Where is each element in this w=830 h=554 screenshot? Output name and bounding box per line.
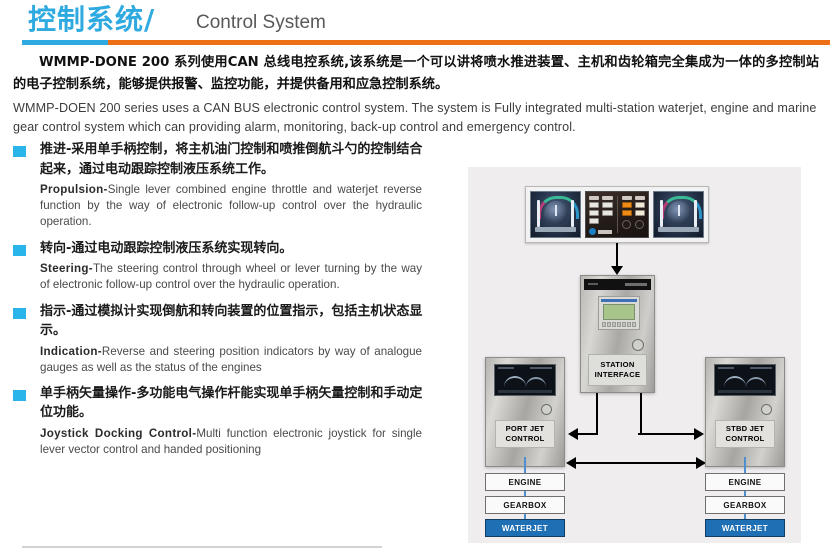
port-label-line1: PORT JET — [506, 424, 545, 434]
gauge-needle — [678, 205, 680, 216]
feature-list: 推进-采用单手柄控制，将主机油门控制和喷推倒航斗勺的控制结合起来，通过电动跟踪控… — [0, 140, 452, 466]
panel-button[interactable] — [602, 202, 612, 208]
gauge-needle — [555, 205, 557, 216]
system-diagram: STATION INTERFACE PORT JET CONTROL — [468, 167, 801, 543]
stbd-jet-control-cabinet: STBD JET CONTROL — [705, 357, 785, 467]
page-header: 控制系统/ Control System — [0, 0, 830, 48]
hmi-display-unit — [598, 296, 640, 330]
panel-knob-group — [635, 220, 645, 229]
feature-lead-en: Propulsion- — [40, 183, 108, 196]
arrow-station-to-stbd-line — [638, 433, 694, 435]
panel-knob-group — [622, 220, 632, 229]
stbd-label-line2: CONTROL — [726, 434, 765, 444]
hmi-keypad[interactable] — [602, 322, 636, 327]
display-bottom-bar — [498, 390, 552, 393]
intro-text-cn: WMMP-DONE 200 系列使用CAN 总线电控系统,该系统是一个可以讲将喷… — [13, 55, 819, 92]
hmi-key[interactable] — [627, 322, 631, 327]
station-label-line2: INTERFACE — [595, 370, 641, 380]
hmi-lcd-screen — [603, 304, 635, 320]
bezel-mark-left — [588, 283, 598, 285]
intro-paragraph-cn: WMMP-DONE 200 系列使用CAN 总线电控系统,该系统是一个可以讲将喷… — [13, 52, 819, 96]
panel-column-3 — [622, 196, 632, 233]
port-engine-box: ENGINE — [485, 473, 565, 491]
arrow-head-to-stbd-icon — [694, 428, 704, 440]
panel-header-strip — [635, 196, 645, 200]
page-title-en: Control System — [196, 10, 326, 36]
station-label-line1: STATION — [600, 360, 634, 370]
display-curve-b — [526, 377, 546, 387]
arrow-console-to-station-icon — [616, 243, 618, 266]
port-jet-control-label: PORT JET CONTROL — [495, 420, 555, 448]
feature-lead-en: Joystick Docking Control- — [40, 427, 196, 440]
panel-header-strip — [622, 196, 632, 200]
control-panel-columns — [589, 196, 645, 233]
gauge-base — [535, 227, 576, 232]
arrow-head-to-port-icon — [568, 428, 578, 440]
feature-item-indication: 指示-通过模拟计实现倒航和转向装置的位置指示，包括主机状态显示。 Indicat… — [0, 302, 452, 376]
port-gearbox-box: GEARBOX — [485, 496, 565, 514]
stbd-label-line1: STBD JET — [726, 424, 764, 434]
stbd-drive-stack: ENGINE GEARBOX WATERJET — [705, 473, 785, 537]
stbd-engine-box: ENGINE — [705, 473, 785, 491]
bullet-square-icon — [13, 146, 26, 157]
bullet-square-icon — [13, 308, 26, 319]
gauge-base — [658, 227, 699, 232]
port-label-line2: CONTROL — [506, 434, 545, 444]
stbd-gauge-icon — [653, 191, 704, 238]
panel-button-active[interactable] — [622, 210, 632, 216]
panel-button[interactable] — [602, 210, 612, 216]
port-jet-control-cabinet: PORT JET CONTROL — [485, 357, 565, 467]
port-status-led-icon — [541, 404, 552, 415]
feature-title-cn: 推进-采用单手柄控制，将主机油门控制和喷推倒航斗勺的控制结合起来，通过电动跟踪控… — [40, 140, 452, 179]
panel-button[interactable] — [589, 218, 599, 224]
station-interface-label: STATION INTERFACE — [588, 354, 647, 386]
bridge-console — [525, 186, 709, 243]
bullet-square-icon — [13, 390, 26, 401]
intro-section: WMMP-DONE 200 系列使用CAN 总线电控系统,该系统是一个可以讲将喷… — [13, 52, 819, 136]
station-left-drop-line — [596, 393, 598, 434]
display-row-right — [750, 367, 772, 369]
stbd-jet-control-label: STBD JET CONTROL — [715, 420, 775, 448]
footer-divider — [22, 546, 382, 548]
station-interface-cabinet: STATION INTERFACE — [580, 275, 655, 393]
gauge-lever-left — [537, 200, 540, 227]
display-bottom-bar — [718, 390, 772, 393]
port-jet-display — [494, 364, 556, 396]
arrow-port-stbd-line — [574, 462, 698, 464]
panel-button[interactable] — [589, 202, 599, 208]
feature-item-propulsion: 推进-采用单手柄控制，将主机油门控制和喷推倒航斗勺的控制结合起来，通过电动跟踪控… — [0, 140, 452, 231]
feature-lead-en: Indication- — [40, 345, 102, 358]
feature-title-cn: 单手柄矢量操作-多功能电气操作杆能实现单手柄矢量控制和手动定位功能。 — [40, 384, 452, 423]
arrow-head-port-icon — [566, 457, 576, 469]
bezel-mark-right — [625, 283, 647, 286]
panel-button[interactable] — [635, 202, 645, 208]
panel-column-4 — [635, 196, 645, 233]
cabinet-top-bezel — [584, 279, 651, 290]
hmi-key[interactable] — [617, 322, 621, 327]
page-title-cn: 控制系统/ — [28, 2, 155, 38]
feature-title-cn: 转向-通过电动跟踪控制液压系统实现转向。 — [40, 239, 452, 259]
display-curve-b — [746, 377, 766, 387]
feature-body-en: Joystick Docking Control-Multi function … — [40, 426, 452, 458]
panel-header-strip — [602, 196, 612, 200]
stbd-status-led-icon — [761, 404, 772, 415]
port-waterjet-box: WATERJET — [485, 519, 565, 537]
feature-title-cn: 指示-通过模拟计实现倒航和转向装置的位置指示，包括主机状态显示。 — [40, 302, 452, 341]
feature-body-en: Steering-The steering control through wh… — [40, 261, 452, 293]
intro-paragraph-en: WMMP-DOEN 200 series uses a CAN BUS elec… — [13, 99, 819, 136]
panel-header-strip — [589, 196, 599, 200]
hmi-key[interactable] — [632, 322, 636, 327]
brand-logo-icon — [589, 228, 596, 235]
status-led-icon — [632, 339, 644, 351]
stbd-gearbox-box: GEARBOX — [705, 496, 785, 514]
gauge-lever-left — [660, 200, 663, 227]
panel-column-2 — [602, 196, 612, 233]
stbd-jet-display — [714, 364, 776, 396]
panel-button-active[interactable] — [622, 202, 632, 208]
control-panel-module — [585, 191, 649, 238]
feature-body-en: Propulsion-Single lever combined engine … — [40, 182, 452, 231]
panel-button[interactable] — [635, 210, 645, 216]
rotary-knob-icon[interactable] — [622, 220, 631, 229]
gauge-lever-right — [571, 200, 574, 227]
display-row-right — [530, 367, 552, 369]
bullet-square-icon — [13, 245, 26, 256]
rotary-knob-icon[interactable] — [635, 220, 644, 229]
arrow-station-to-port-line — [578, 433, 598, 435]
hmi-key[interactable] — [607, 322, 611, 327]
hmi-top-bar — [601, 299, 637, 302]
hmi-key[interactable] — [622, 322, 626, 327]
panel-button[interactable] — [589, 210, 599, 216]
feature-body-en: Indication-Reverse and steering position… — [40, 344, 452, 376]
display-curve-a — [504, 376, 526, 388]
stbd-waterjet-box: WATERJET — [705, 519, 785, 537]
header-rule-orange — [108, 40, 830, 45]
panel-divider — [617, 196, 618, 233]
feature-text-en: The steering control through wheel or le… — [40, 262, 422, 291]
hmi-key[interactable] — [602, 322, 606, 327]
header-rule-blue — [22, 40, 108, 45]
gauge-lever-right — [694, 200, 697, 227]
port-gauge-icon — [530, 191, 581, 238]
station-right-drop-line — [640, 393, 642, 434]
display-curve-a — [724, 376, 746, 388]
feature-lead-en: Steering- — [40, 262, 93, 275]
hmi-key[interactable] — [612, 322, 616, 327]
display-row-left — [498, 367, 514, 369]
brand-wordmark — [598, 230, 612, 234]
feature-item-steering: 转向-通过电动跟踪控制液压系统实现转向。 Steering-The steeri… — [0, 239, 452, 294]
display-row-left — [718, 367, 734, 369]
port-drive-stack: ENGINE GEARBOX WATERJET — [485, 473, 565, 537]
feature-item-joystick: 单手柄矢量操作-多功能电气操作杆能实现单手柄矢量控制和手动定位功能。 Joyst… — [0, 384, 452, 458]
